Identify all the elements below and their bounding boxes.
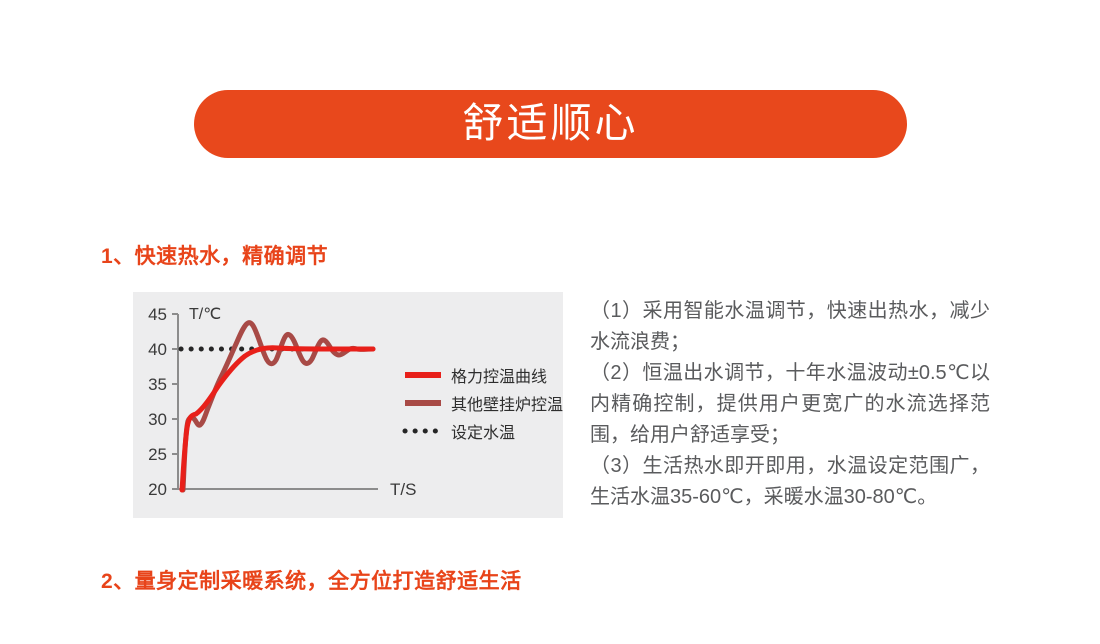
series-line-gree [182, 348, 373, 490]
page-title-banner: 舒适顺心 [194, 90, 907, 158]
y-tick-label-30: 30 [148, 410, 167, 429]
chart-legend: 格力控温曲线 其他壁挂炉控温曲线 设定水温 [405, 368, 563, 442]
feature-paragraph-1: （1）采用智能水温调节，快速出热水，减少水流浪费； [590, 296, 990, 358]
y-tick-label-40: 40 [148, 340, 167, 359]
y-tick-label-45: 45 [148, 305, 167, 324]
legend-label-other-boiler: 其他壁挂炉控温曲线 [451, 395, 563, 414]
page-title: 舒适顺心 [463, 103, 639, 146]
feature-paragraph-2: （2）恒温出水调节，十年水温波动±0.5℃以内精确控制，提供用户更宽广的水流选择… [590, 358, 990, 451]
legend-label-gree: 格力控温曲线 [451, 368, 547, 386]
chart-svg: 20 25 30 35 40 45 T/℃ T/S 格力控温曲线 其他壁挂炉控温… [133, 292, 563, 518]
x-axis-label: T/S [390, 480, 416, 499]
y-tick-label-35: 35 [148, 375, 167, 394]
section-heading-2: 2、量身定制采暖系统，全方位打造舒适生活 [101, 565, 522, 595]
legend-label-setpoint: 设定水温 [451, 424, 515, 442]
section-heading-1: 1、快速热水，精确调节 [101, 240, 328, 270]
y-axis-label: T/℃ [189, 306, 221, 323]
temperature-control-chart: 20 25 30 35 40 45 T/℃ T/S 格力控温曲线 其他壁挂炉控温… [133, 292, 563, 518]
y-tick-label-20: 20 [148, 480, 167, 499]
feature-description-block: （1）采用智能水温调节，快速出热水，减少水流浪费； （2）恒温出水调节，十年水温… [590, 296, 990, 513]
y-tick-label-25: 25 [148, 445, 167, 464]
feature-paragraph-3: （3）生活热水即开即用，水温设定范围广，生活水温35-60℃，采暖水温30-80… [590, 451, 990, 513]
